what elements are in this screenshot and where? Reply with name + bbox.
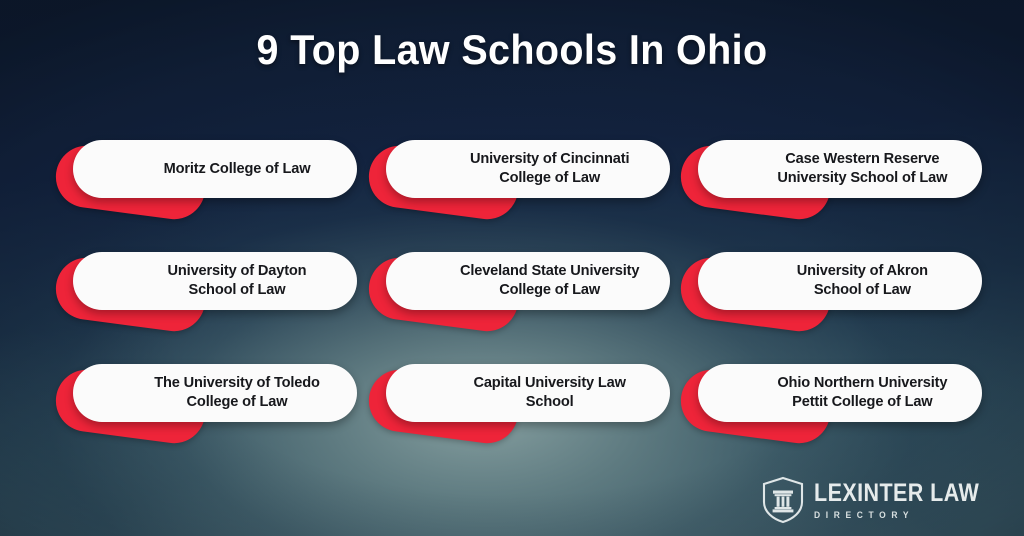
school-name-line1: Capital University Law bbox=[473, 375, 625, 391]
list-item: The University of Toledo College of Law bbox=[48, 356, 351, 468]
school-name-line1: Moritz College of Law bbox=[164, 161, 311, 177]
pill-body: The University of Toledo College of Law bbox=[73, 364, 357, 422]
school-pill[interactable]: Cleveland State University College of La… bbox=[373, 252, 670, 314]
school-name: Capital University Law School bbox=[473, 374, 625, 411]
school-name-line2: School of Law bbox=[189, 282, 286, 298]
list-item: University of Akron School of Law bbox=[673, 244, 976, 356]
school-name-line1: Case Western Reserve bbox=[785, 151, 939, 167]
pill-body: Cleveland State University College of La… bbox=[386, 252, 670, 310]
shield-pillar-icon bbox=[761, 476, 805, 524]
school-name-line1: University of Dayton bbox=[168, 263, 307, 279]
school-name-line1: Cleveland State University bbox=[460, 263, 639, 279]
school-pill[interactable]: University of Dayton School of Law bbox=[60, 252, 357, 314]
school-name: Case Western Reserve University School o… bbox=[777, 150, 947, 187]
pill-body: Capital University Law School bbox=[386, 364, 670, 422]
pill-body: University of Dayton School of Law bbox=[73, 252, 357, 310]
pill-body: University of Cincinnati College of Law bbox=[386, 140, 670, 198]
school-name: Moritz College of Law bbox=[164, 161, 311, 177]
list-item: Case Western Reserve University School o… bbox=[673, 132, 976, 244]
school-name-line2: University School of Law bbox=[777, 170, 947, 186]
school-name: Ohio Northern University Pettit College … bbox=[777, 374, 947, 411]
pill-body: Case Western Reserve University School o… bbox=[698, 140, 982, 198]
school-name-line1: Ohio Northern University bbox=[777, 375, 947, 391]
school-list: Moritz College of Law University of Cinc… bbox=[48, 132, 976, 468]
brand-logo[interactable]: LEXINTER LAW DIRECTORY bbox=[761, 476, 1006, 524]
school-name: The University of Toledo College of Law bbox=[154, 374, 320, 411]
list-item: Moritz College of Law bbox=[48, 132, 351, 244]
school-pill[interactable]: Moritz College of Law bbox=[60, 140, 357, 202]
school-name-line2: School bbox=[526, 394, 574, 410]
school-name-line1: University of Cincinnati bbox=[470, 151, 629, 167]
school-name-line2: School of Law bbox=[814, 282, 911, 298]
logo-brand-text: LEXINTER LAW bbox=[814, 481, 979, 506]
school-pill[interactable]: Case Western Reserve University School o… bbox=[685, 140, 982, 202]
school-name-line2: Pettit College of Law bbox=[792, 394, 932, 410]
list-item: Cleveland State University College of La… bbox=[361, 244, 664, 356]
school-name: University of Akron School of Law bbox=[797, 262, 928, 299]
list-item: Capital University Law School bbox=[361, 356, 664, 468]
pill-body: University of Akron School of Law bbox=[698, 252, 982, 310]
list-item: University of Dayton School of Law bbox=[48, 244, 351, 356]
school-pill[interactable]: Ohio Northern University Pettit College … bbox=[685, 364, 982, 426]
school-name-line1: The University of Toledo bbox=[154, 375, 320, 391]
list-item: University of Cincinnati College of Law bbox=[361, 132, 664, 244]
pill-body: Ohio Northern University Pettit College … bbox=[698, 364, 982, 422]
school-pill[interactable]: University of Cincinnati College of Law bbox=[373, 140, 670, 202]
page-title: 9 Top Law Schools In Ohio bbox=[31, 26, 994, 74]
pill-body: Moritz College of Law bbox=[73, 140, 357, 198]
school-pill[interactable]: The University of Toledo College of Law bbox=[60, 364, 357, 426]
school-name-line2: College of Law bbox=[499, 170, 600, 186]
school-name-line1: University of Akron bbox=[797, 263, 928, 279]
logo-subtitle-text: DIRECTORY bbox=[814, 511, 995, 520]
school-name-line2: College of Law bbox=[187, 394, 288, 410]
school-name: University of Dayton School of Law bbox=[168, 262, 307, 299]
school-name-line2: College of Law bbox=[499, 282, 600, 298]
school-name: University of Cincinnati College of Law bbox=[470, 150, 629, 187]
logo-wordmark: LEXINTER LAW DIRECTORY bbox=[814, 481, 1006, 520]
list-item: Ohio Northern University Pettit College … bbox=[673, 356, 976, 468]
school-pill[interactable]: University of Akron School of Law bbox=[685, 252, 982, 314]
school-name: Cleveland State University College of La… bbox=[460, 262, 639, 299]
school-pill[interactable]: Capital University Law School bbox=[373, 364, 670, 426]
